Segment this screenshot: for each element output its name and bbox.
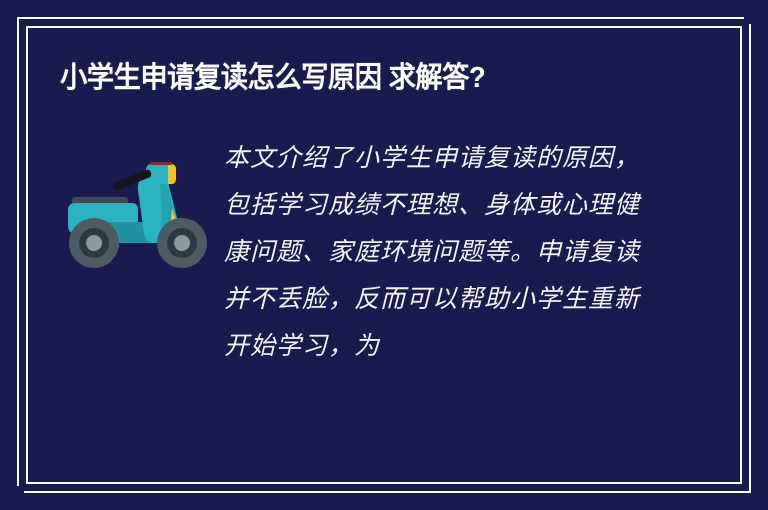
frame-corner-mask-bottom-left xyxy=(0,486,24,510)
scooter-illustration xyxy=(60,134,220,282)
page-title: 小学生申请复读怎么写原因 求解答? xyxy=(60,54,643,102)
article-card: 小学生申请复读怎么写原因 求解答? xyxy=(26,26,742,484)
article-body: 本文介绍了小学生申请复读的原因，包括学习成绩不理想、身体或心理健康问题、家庭环境… xyxy=(60,134,708,369)
frame-corner-mask-top-right xyxy=(744,0,768,24)
article-excerpt: 本文介绍了小学生申请复读的原因，包括学习成绩不理想、身体或心理健康问题、家庭环境… xyxy=(220,134,645,369)
